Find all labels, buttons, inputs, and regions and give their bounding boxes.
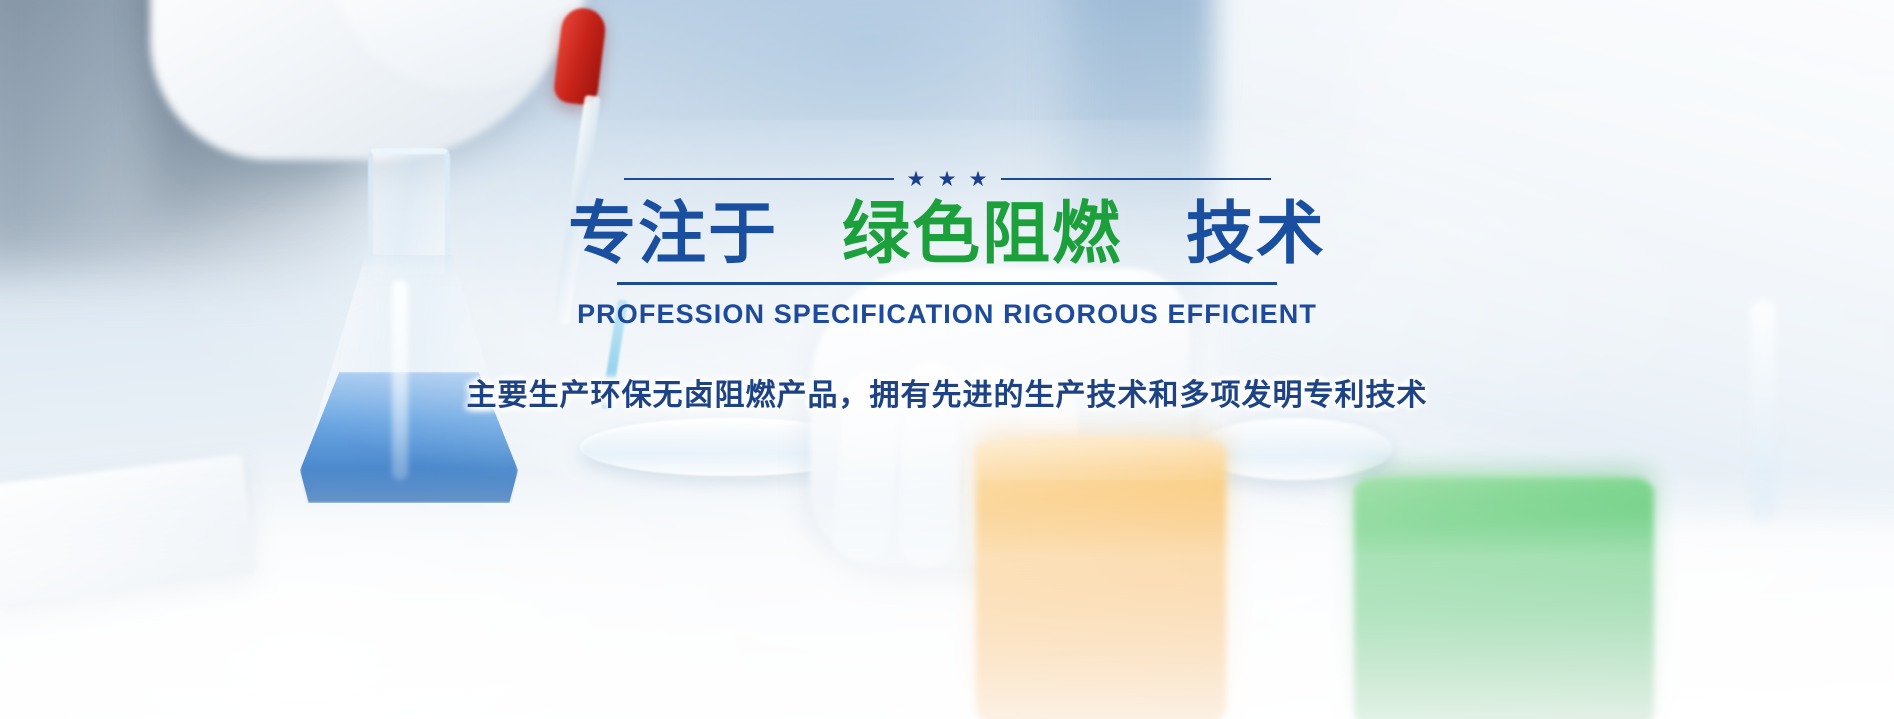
subtitle-chinese: 主要生产环保无卤阻燃产品，拥有先进的生产技术和多项发明专利技术: [0, 370, 1894, 414]
title-underline: [617, 282, 1277, 285]
star-icon: [908, 171, 925, 188]
page-title: 专注于 绿色阻燃 技术: [0, 198, 1894, 270]
lab-bench-surface: [0, 469, 1894, 719]
star-group: [908, 171, 987, 188]
headline-part-2: 绿色阻燃: [842, 196, 1122, 272]
star-icon: [939, 171, 956, 188]
rule-left: [624, 178, 894, 180]
decorative-rule: [0, 168, 1894, 190]
hero-banner: 专注于 绿色阻燃 技术 PROFESSION SPECIFICATION RIG…: [0, 0, 1894, 719]
banner-text-block: 专注于 绿色阻燃 技术 PROFESSION SPECIFICATION RIG…: [0, 168, 1894, 414]
headline-part-3: 技术: [1186, 196, 1326, 272]
rule-right: [1001, 178, 1271, 180]
headline-part-1: 专注于: [568, 196, 778, 272]
star-icon: [970, 171, 987, 188]
subtitle-english: PROFESSION SPECIFICATION RIGOROUS EFFICI…: [0, 299, 1894, 330]
